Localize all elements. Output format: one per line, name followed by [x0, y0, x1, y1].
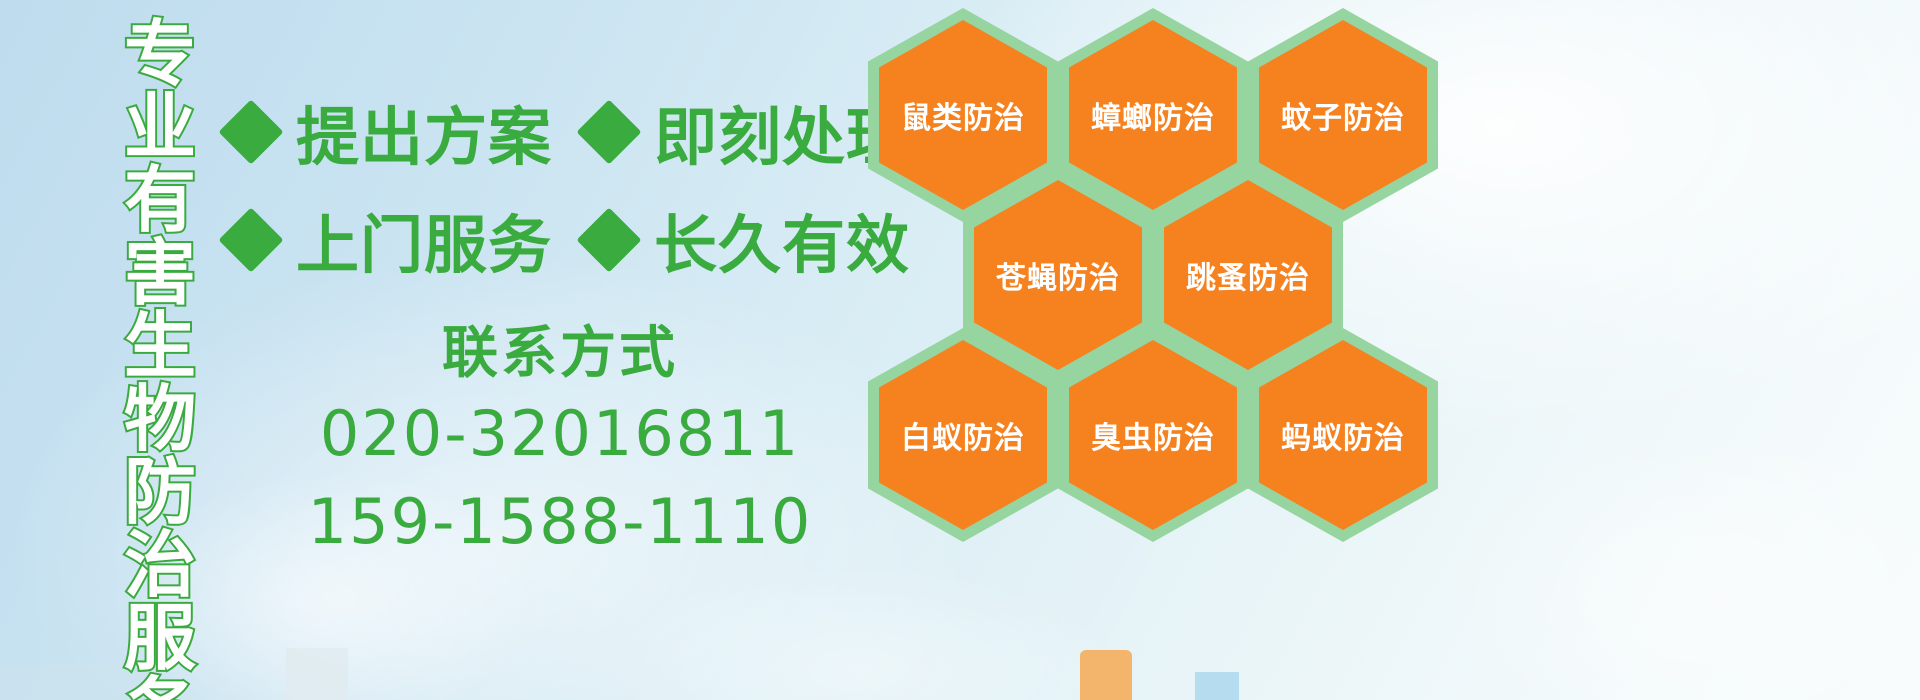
service-hex-label: 蚊子防治	[1281, 93, 1405, 137]
background-bar-orange	[1080, 650, 1132, 700]
service-hex-termite[interactable]: 白蚁防治	[868, 328, 1058, 542]
vertical-headline-char: 业	[124, 91, 196, 163]
diamond-bullet-icon	[218, 207, 283, 272]
feature-label: 上门服务	[296, 195, 552, 286]
vertical-headline: 专 业 有 害 生 物 防 治 服 务	[112, 18, 208, 678]
feature-row: 上门服务 长久有效	[228, 186, 868, 294]
vertical-headline-char: 害	[124, 237, 196, 309]
service-hex-bedbug[interactable]: 臭虫防治	[1058, 328, 1248, 542]
service-hex-ant[interactable]: 蚂蚁防治	[1248, 328, 1438, 542]
service-hex-label: 蚂蚁防治	[1281, 413, 1405, 457]
contact-phone-landline[interactable]: 020-32016811	[300, 390, 820, 478]
service-hex-label: 鼠类防治	[901, 93, 1025, 137]
diamond-bullet-icon	[576, 99, 641, 164]
contact-phone-mobile[interactable]: 159-1588-1110	[300, 478, 820, 566]
vertical-headline-char: 服	[124, 602, 196, 674]
vertical-headline-char: 有	[124, 164, 196, 236]
pest-control-banner: 专 业 有 害 生 物 防 治 服 务 提出方案 即刻处理 上门服务	[0, 0, 1920, 700]
vertical-headline-char: 物	[124, 383, 196, 455]
service-hex-label: 臭虫防治	[1091, 413, 1215, 457]
feature-label: 提出方案	[296, 87, 552, 178]
background-bar-blue	[1195, 672, 1239, 700]
service-hex-label: 蟑螂防治	[1091, 93, 1215, 137]
feature-item-door-to-door-service: 上门服务	[228, 195, 552, 286]
feature-row: 提出方案 即刻处理	[228, 78, 868, 186]
background-blob-right	[1450, 430, 1920, 700]
vertical-headline-char: 防	[124, 456, 196, 528]
diamond-bullet-icon	[218, 99, 283, 164]
vertical-headline-char: 专	[124, 18, 196, 90]
contact-title: 联系方式	[300, 318, 820, 390]
service-honeycomb: 鼠类防治 蟑螂防治 蚊子防治 苍蝇防治 跳蚤防治 白蚁防治	[862, 0, 1462, 560]
feature-list: 提出方案 即刻处理 上门服务 长久有效	[228, 78, 868, 294]
feature-item-propose-plan: 提出方案	[228, 87, 552, 178]
service-hex-label: 白蚁防治	[901, 413, 1025, 457]
vertical-headline-char: 生	[124, 310, 196, 382]
vertical-headline-char: 务	[124, 675, 196, 700]
diamond-bullet-icon	[576, 207, 641, 272]
background-blob-center	[600, 560, 1120, 700]
contact-block: 联系方式 020-32016811 159-1588-1110	[300, 318, 820, 566]
background-bar-left	[286, 648, 348, 700]
service-hex-label: 苍蝇防治	[996, 253, 1120, 297]
vertical-headline-char: 治	[124, 529, 196, 601]
service-hex-label: 跳蚤防治	[1186, 253, 1310, 297]
